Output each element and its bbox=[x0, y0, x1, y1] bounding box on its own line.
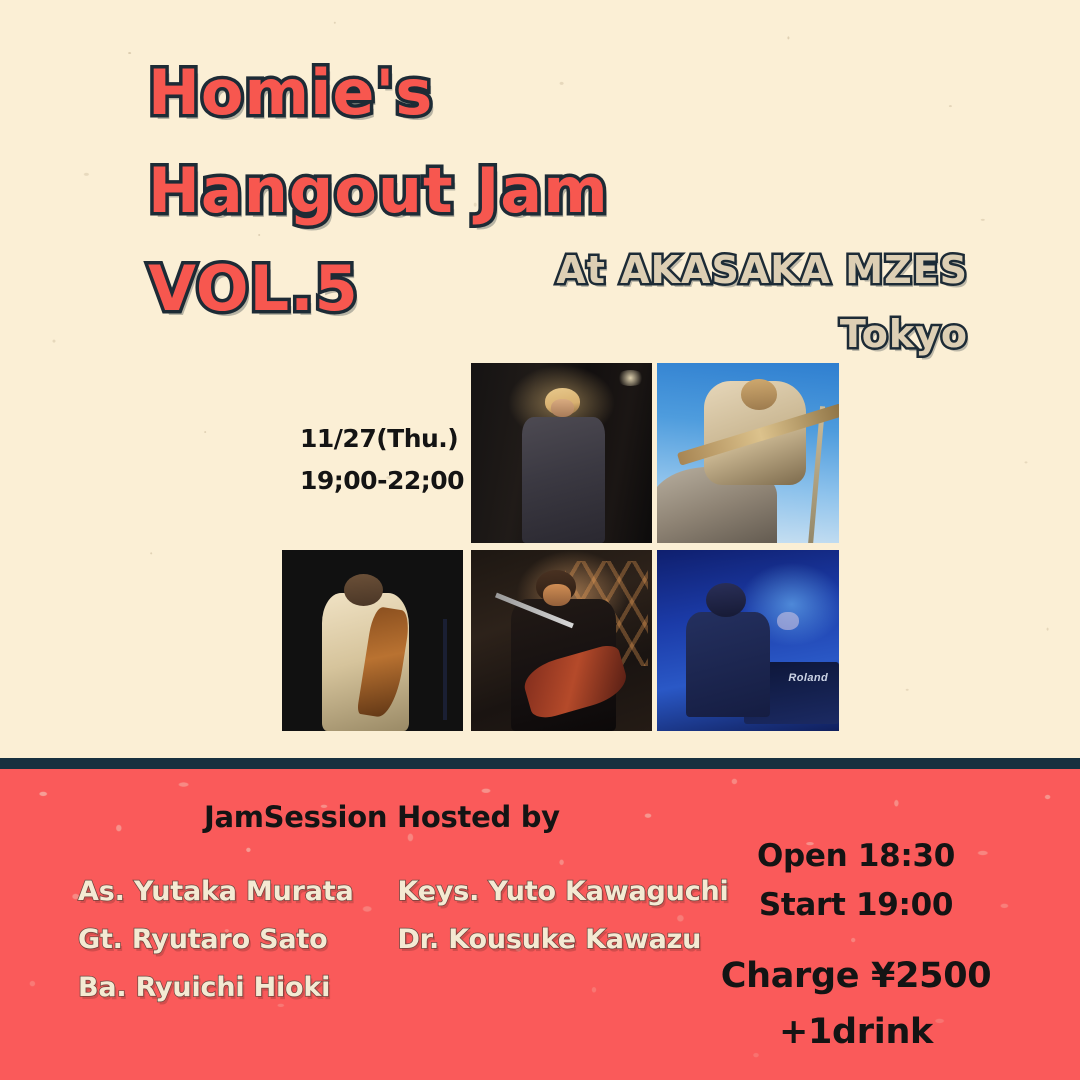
title-line-2: Hangout Jam bbox=[148, 142, 708, 240]
host-member: Dr. Kousuke Kawazu bbox=[398, 916, 729, 964]
ticket-info: Open 18:30 Start 19:00 Charge ¥2500 +1dr… bbox=[706, 832, 1006, 1060]
start-time: Start 19:00 bbox=[706, 881, 1006, 930]
host-member: Keys. Yuto Kawaguchi bbox=[398, 868, 729, 916]
photo-sky-bassist bbox=[657, 363, 839, 543]
open-time: Open 18:30 bbox=[706, 832, 1006, 881]
photo-sax-player bbox=[282, 550, 463, 731]
host-column-left: As. Yutaka Murata Gt. Ryutaro Sato Ba. R… bbox=[78, 868, 354, 1012]
venue-info: At AKASAKA MZES Tokyo bbox=[556, 238, 968, 366]
charge-amount: Charge ¥2500 bbox=[706, 948, 1006, 1004]
host-members-list: As. Yutaka Murata Gt. Ryutaro Sato Ba. R… bbox=[78, 868, 729, 1012]
photo-keyboardist: Roland bbox=[657, 550, 839, 731]
hosted-by-heading: JamSession Hosted by bbox=[204, 800, 560, 834]
host-member: Gt. Ryutaro Sato bbox=[78, 916, 354, 964]
event-poster: Homie's Hangout Jam VOL.5 At AKASAKA MZE… bbox=[0, 0, 1080, 1080]
host-member: Ba. Ryuichi Hioki bbox=[78, 964, 354, 1012]
section-divider bbox=[0, 758, 1080, 769]
photo-guitarist bbox=[471, 550, 652, 731]
title-line-1: Homie's bbox=[148, 44, 708, 142]
photo-alley-portrait bbox=[471, 363, 652, 543]
host-column-right: Keys. Yuto Kawaguchi Dr. Kousuke Kawazu bbox=[398, 868, 729, 1012]
host-member: As. Yutaka Murata bbox=[78, 868, 354, 916]
venue-city: Tokyo bbox=[556, 302, 968, 366]
performer-photo-grid: Roland bbox=[282, 363, 839, 731]
venue-name: At AKASAKA MZES bbox=[556, 238, 968, 302]
drink-requirement: +1drink bbox=[706, 1004, 1006, 1060]
roland-logo-text: Roland bbox=[788, 672, 828, 684]
